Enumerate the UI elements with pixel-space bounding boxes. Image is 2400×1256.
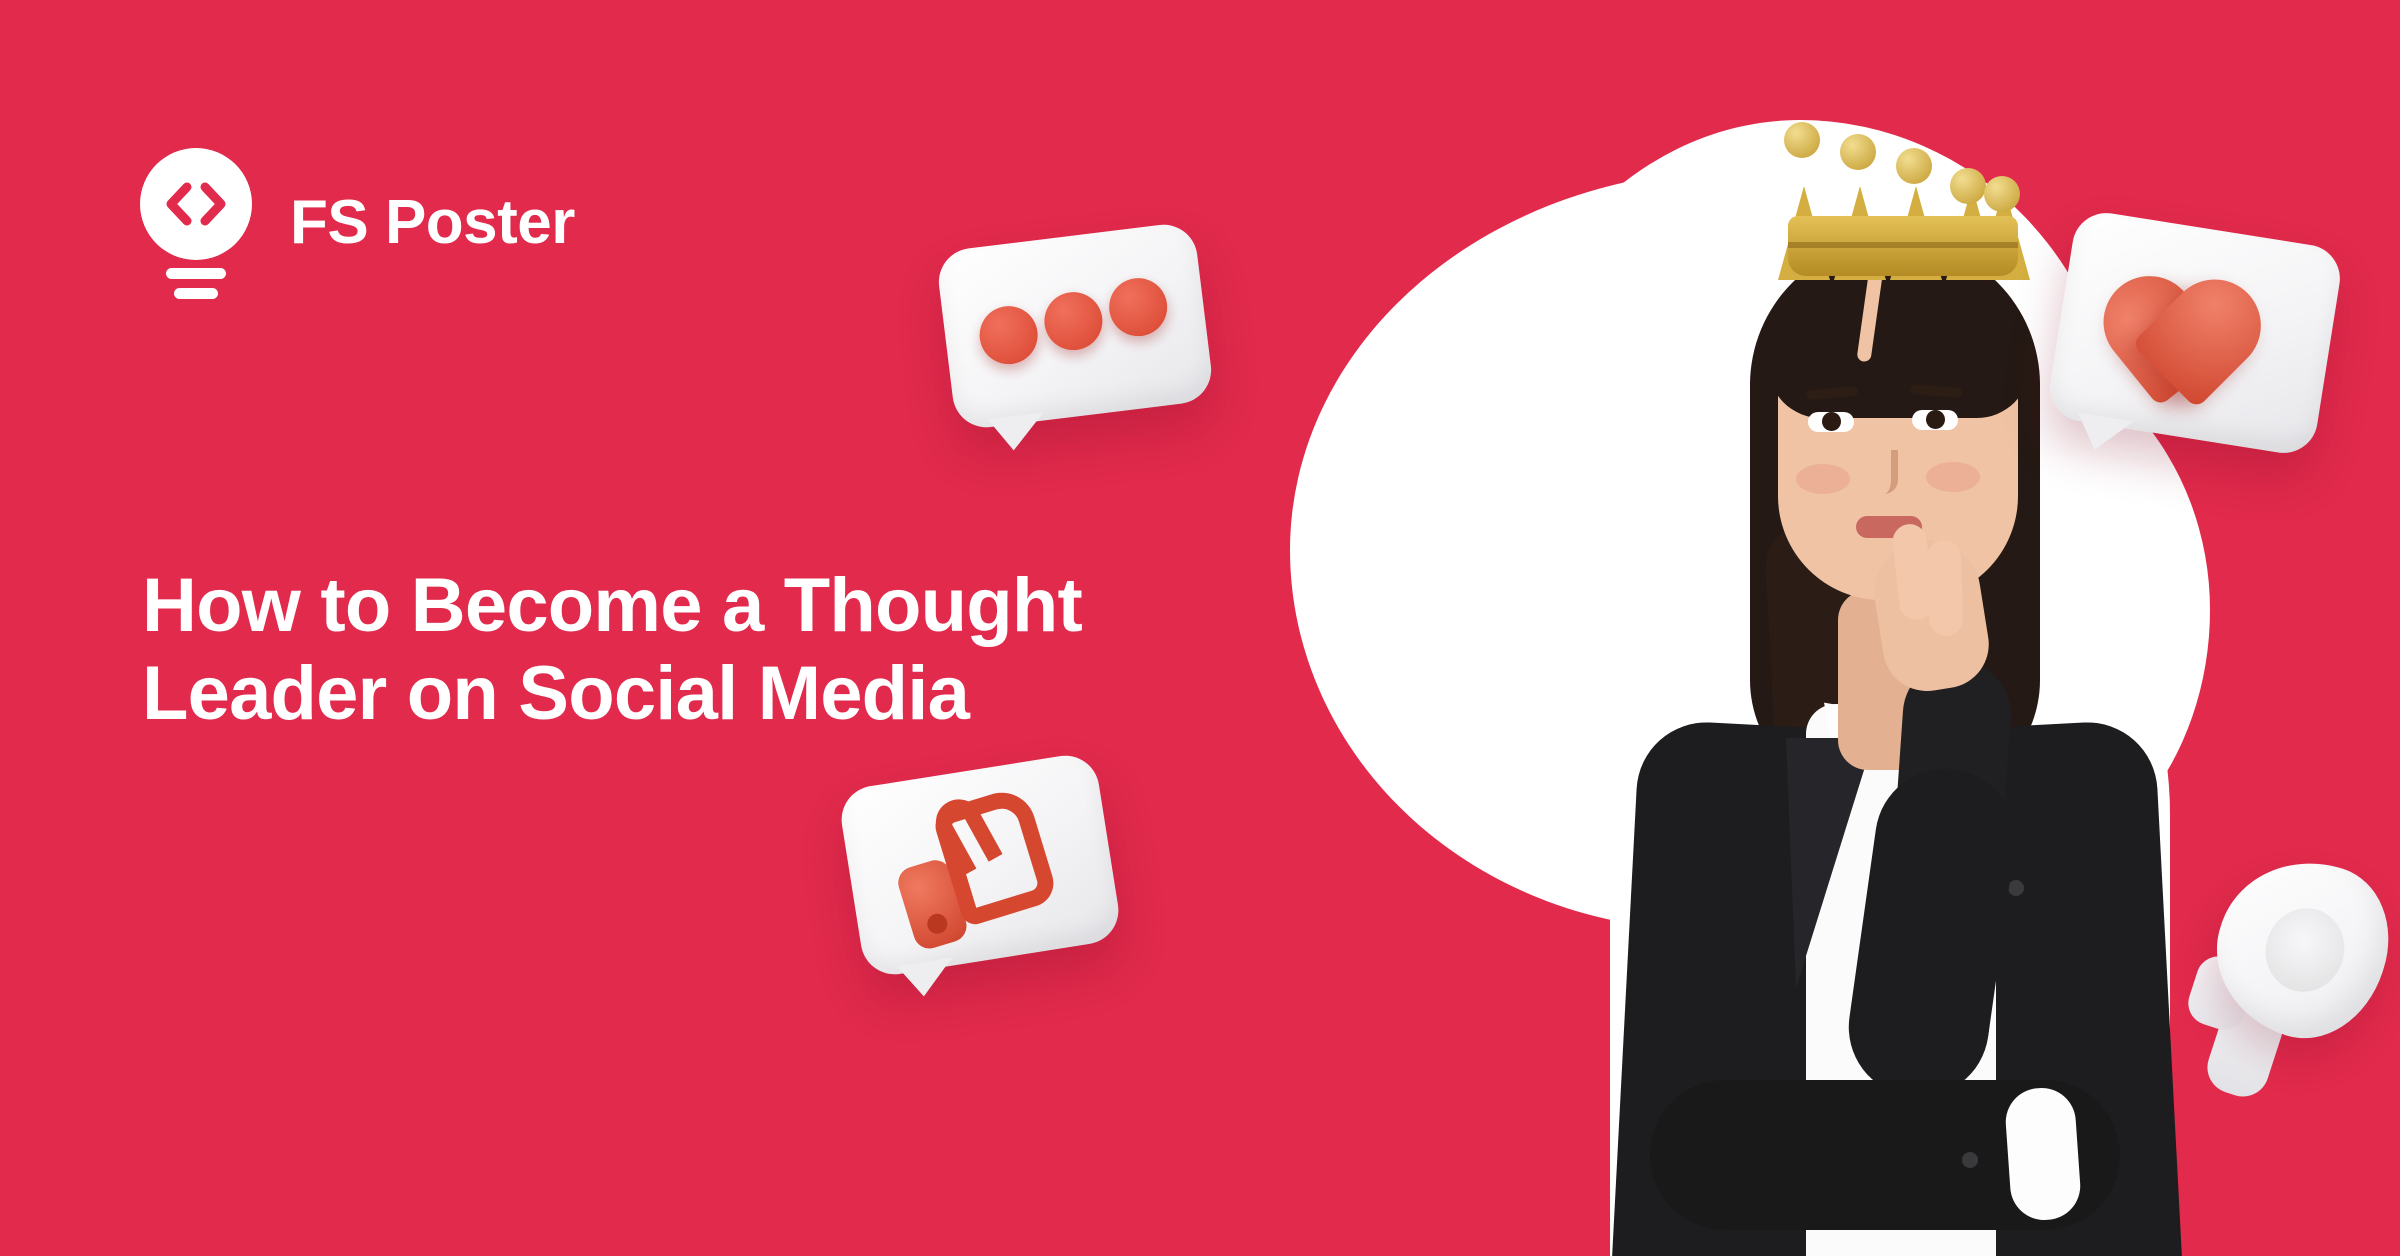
heart-icon (2045, 208, 2345, 458)
thumbs-up-shape (881, 784, 1062, 950)
finger-2 (1926, 539, 1963, 636)
pupil-right (1926, 410, 1945, 429)
nose (1872, 450, 1898, 494)
thumbs-up-icon (837, 751, 1124, 979)
crown-icon (1778, 120, 2028, 280)
heart-shape (2108, 261, 2265, 409)
comment-dot-3 (1106, 275, 1171, 340)
crown-ball-1 (1784, 122, 1820, 158)
comment-dot-1 (976, 303, 1041, 368)
brand-lockup[interactable]: FS Poster (140, 148, 575, 298)
jacket-button-1 (2008, 880, 2024, 896)
megaphone-icon (2200, 850, 2400, 1100)
headline-line-2: Leader on Social Media (142, 650, 1262, 738)
lightbulb-base-bar-2 (174, 288, 218, 299)
brand-name: FS Poster (290, 192, 575, 254)
crown-ball-3 (1896, 148, 1932, 184)
lightbulb-base-bar-1 (166, 268, 226, 279)
shirt-cuff (2003, 1086, 2082, 1223)
pupil-left (1822, 412, 1841, 431)
crown-ball-5 (1984, 176, 2020, 212)
cheek-left (1796, 464, 1850, 494)
code-bracket-icon (140, 148, 252, 260)
blog-banner: FS Poster How to Become a Thought Leader… (0, 0, 2400, 1256)
cheek-right (1926, 462, 1980, 492)
hero-artwork (1180, 0, 2400, 1256)
page-title: How to Become a Thought Leader on Social… (142, 562, 1262, 738)
crown-ball-2 (1840, 134, 1876, 170)
crown-band (1788, 216, 2018, 276)
crown-ball-4 (1950, 168, 1986, 204)
comment-dot-2 (1041, 289, 1106, 354)
headline-line-1: How to Become a Thought (142, 562, 1262, 650)
lightbulb-code-icon (140, 148, 252, 298)
comment-dots-icon (935, 221, 1215, 431)
jacket-button-2 (1962, 1152, 1978, 1168)
